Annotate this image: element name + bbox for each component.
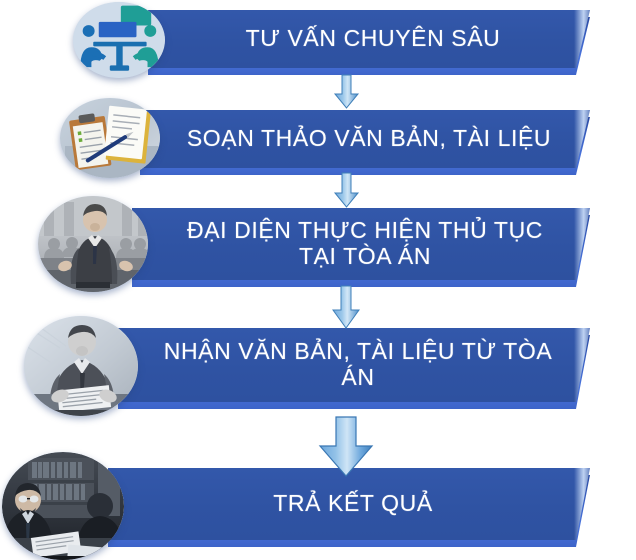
client-meeting-office-photo xyxy=(2,452,124,560)
step-2-label: SOẠN THẢO VĂN BẢN, TÀI LIỆU xyxy=(140,110,590,168)
step-1-icon-circle[interactable] xyxy=(73,2,165,78)
lawyer-desk-photo xyxy=(24,316,138,416)
step-2-bar[interactable]: SOẠN THẢO VĂN BẢN, TÀI LIỆU xyxy=(140,110,590,168)
step-1-bar[interactable]: TƯ VẤN CHUYÊN SÂU xyxy=(148,10,590,68)
step-5-bar[interactable]: TRẢ KẾT QUẢ xyxy=(108,468,590,540)
step-5-label: TRẢ KẾT QUẢ xyxy=(108,468,590,540)
step-3-bar[interactable]: ĐẠI DIỆN THỰC HIỆN THỦ TỤC TẠI TÒA ÁN xyxy=(132,208,590,280)
arrow-step3-to-step4 xyxy=(331,285,361,329)
step-2-icon-circle[interactable] xyxy=(60,98,160,178)
lawyer-courtroom-photo xyxy=(38,196,148,292)
step-4-icon-circle[interactable] xyxy=(24,316,138,416)
step-4-label: NHẬN VĂN BẢN, TÀI LIỆU TỪ TÒA ÁN xyxy=(118,328,590,402)
step-5-icon-circle[interactable] xyxy=(2,452,124,560)
step-4-bar[interactable]: NHẬN VĂN BẢN, TÀI LIỆU TỪ TÒA ÁN xyxy=(118,328,590,402)
arrow-step1-to-step2 xyxy=(333,74,360,109)
step-1-label: TƯ VẤN CHUYÊN SÂU xyxy=(148,10,590,68)
consultation-meeting-icon xyxy=(73,2,165,78)
step-3-label: ĐẠI DIỆN THỰC HIỆN THỦ TỤC TẠI TÒA ÁN xyxy=(132,208,590,280)
documents-clipboard-photo xyxy=(60,98,160,178)
arrow-step2-to-step3 xyxy=(333,172,360,208)
process-flow-diagram: TƯ VẤN CHUYÊN SÂU xyxy=(0,0,636,560)
step-3-icon-circle[interactable] xyxy=(38,196,148,292)
